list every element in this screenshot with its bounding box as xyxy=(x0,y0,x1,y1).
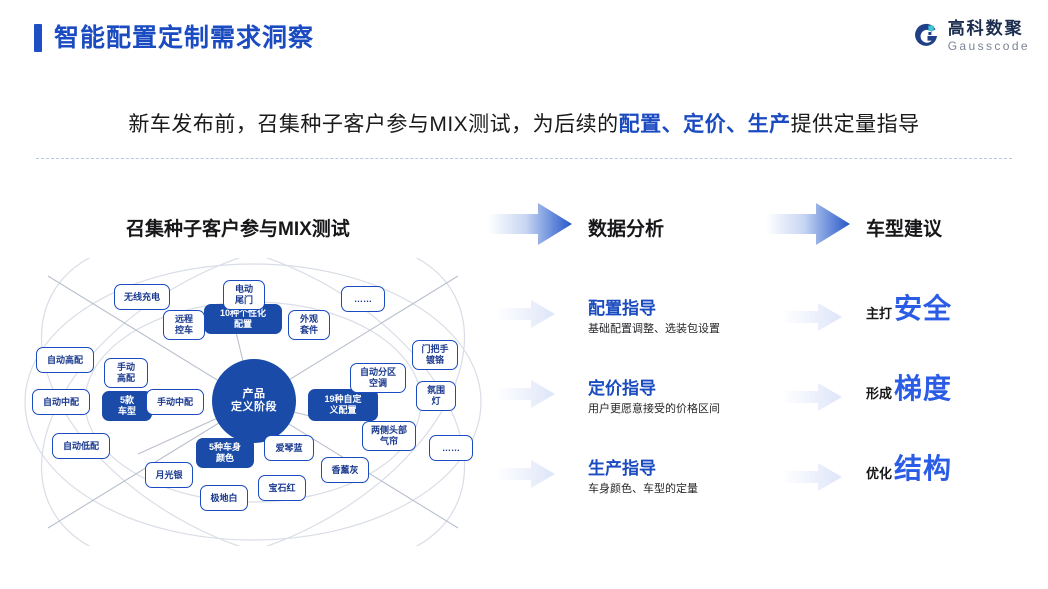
mindmap-leaf-node[interactable]: 宝石红 xyxy=(258,475,306,501)
mindmap-leaf-node[interactable]: 电动 尾门 xyxy=(223,280,265,310)
mindmap-leaf-node[interactable]: 手动 高配 xyxy=(104,358,148,388)
mindmap-leaf-node[interactable]: 爱琴蓝 xyxy=(264,435,314,461)
analysis-title: 定价指导 xyxy=(588,380,720,397)
mindmap-leaf-node[interactable]: 自动中配 xyxy=(32,389,90,415)
suggestion-prefix: 优化 xyxy=(866,467,892,483)
analysis-title: 配置指导 xyxy=(588,300,720,317)
brand-logo: 高科数聚 Gausscode xyxy=(911,20,1030,52)
suggestion-keyword: 安全 xyxy=(894,296,952,323)
brand-logo-text: 高科数聚 Gausscode xyxy=(948,20,1030,52)
analysis-title: 生产指导 xyxy=(588,460,698,477)
section-divider xyxy=(36,158,1012,159)
mindmap-leaf-node[interactable]: 自动高配 xyxy=(36,347,94,373)
flow-arrow-2-icon xyxy=(766,203,850,245)
mindmap-leaf-node[interactable]: 自动低配 xyxy=(52,433,110,459)
suggestion-item-tiering[interactable]: 形成 梯度 xyxy=(866,376,952,403)
mindmap-leaf-node[interactable]: 极地白 xyxy=(200,485,248,511)
mindmap-branch-node-colors5[interactable]: 5种车身 颜色 xyxy=(196,438,254,468)
mindmap-leaf-node[interactable]: 月光银 xyxy=(145,462,193,488)
mindmap-leaf-node[interactable]: 手动中配 xyxy=(146,389,204,415)
column-header-left: 召集种子客户参与MIX测试 xyxy=(126,214,350,241)
title-accent-bar xyxy=(34,24,42,52)
page-title-text: 智能配置定制需求洞察 xyxy=(54,26,314,51)
column-header-mid: 数据分析 xyxy=(588,214,664,241)
row-arrow-3-icon xyxy=(495,460,555,488)
row-arrow-2-icon xyxy=(495,380,555,408)
mindmap-leaf-node[interactable]: 门把手 镀铬 xyxy=(412,340,458,370)
gausscode-logo-icon xyxy=(911,21,941,51)
mindmap-leaf-node[interactable]: 自动分区 空调 xyxy=(350,363,406,393)
mindmap-leaf-node[interactable]: 无线充电 xyxy=(114,284,170,310)
mindmap-leaf-node[interactable]: 两侧头部 气帘 xyxy=(362,421,416,451)
mindmap-leaf-node[interactable]: 香薰灰 xyxy=(321,457,369,483)
suggestion-keyword: 梯度 xyxy=(894,376,952,403)
suggestion-prefix: 主打 xyxy=(866,307,892,323)
mindmap-leaf-node[interactable]: 氛围 灯 xyxy=(416,381,456,411)
analysis-item-config[interactable]: 配置指导 基础配置调整、选装包设置 xyxy=(588,300,720,335)
result-arrow-2-icon xyxy=(782,383,842,411)
mindmap-leaf-node[interactable]: …… xyxy=(341,286,385,312)
suggestion-item-safety[interactable]: 主打 安全 xyxy=(866,296,952,323)
subtitle-part-1: 新车发布前，召集种子客户参与MIX测试，为后续的 xyxy=(128,113,618,136)
mindmap-leaf-node[interactable]: 远程 控车 xyxy=(163,310,205,340)
mindmap-diagram: 产品 定义阶段 10种个性化 配置 19种自定 义配置 5款 车型 5种车身 颜… xyxy=(18,258,488,546)
mindmap-center-node[interactable]: 产品 定义阶段 xyxy=(212,359,296,443)
result-arrow-1-icon xyxy=(782,303,842,331)
mindmap-branch-node-models5[interactable]: 5款 车型 xyxy=(102,391,152,421)
slide-root: 智能配置定制需求洞察 高科数聚 Gausscode 新车发布前，召集种子客户参与… xyxy=(0,0,1048,589)
result-arrow-3-icon xyxy=(782,463,842,491)
suggestion-prefix: 形成 xyxy=(866,387,892,403)
subtitle-highlight: 配置、定价、生产 xyxy=(619,113,791,136)
subtitle: 新车发布前，召集种子客户参与MIX测试，为后续的配置、定价、生产提供定量指导 xyxy=(0,108,1048,138)
row-arrow-1-icon xyxy=(495,300,555,328)
mindmap-leaf-node[interactable]: …… xyxy=(429,435,473,461)
brand-name-en: Gausscode xyxy=(948,40,1030,52)
suggestion-item-structure[interactable]: 优化 结构 xyxy=(866,456,952,483)
suggestion-keyword: 结构 xyxy=(894,456,952,483)
analysis-subtitle: 车身颜色、车型的定量 xyxy=(588,484,698,495)
analysis-subtitle: 用户更愿意接受的价格区间 xyxy=(588,404,720,415)
column-header-right: 车型建议 xyxy=(866,214,942,241)
subtitle-part-2: 提供定量指导 xyxy=(791,113,920,136)
analysis-subtitle: 基础配置调整、选装包设置 xyxy=(588,324,720,335)
mindmap-leaf-node[interactable]: 外观 套件 xyxy=(288,310,330,340)
analysis-item-pricing[interactable]: 定价指导 用户更愿意接受的价格区间 xyxy=(588,380,720,415)
page-title: 智能配置定制需求洞察 xyxy=(34,24,314,52)
mindmap-branch-node-custom19[interactable]: 19种自定 义配置 xyxy=(308,389,378,421)
flow-arrow-1-icon xyxy=(488,203,572,245)
analysis-item-production[interactable]: 生产指导 车身颜色、车型的定量 xyxy=(588,460,698,495)
brand-name-cn: 高科数聚 xyxy=(948,20,1030,37)
